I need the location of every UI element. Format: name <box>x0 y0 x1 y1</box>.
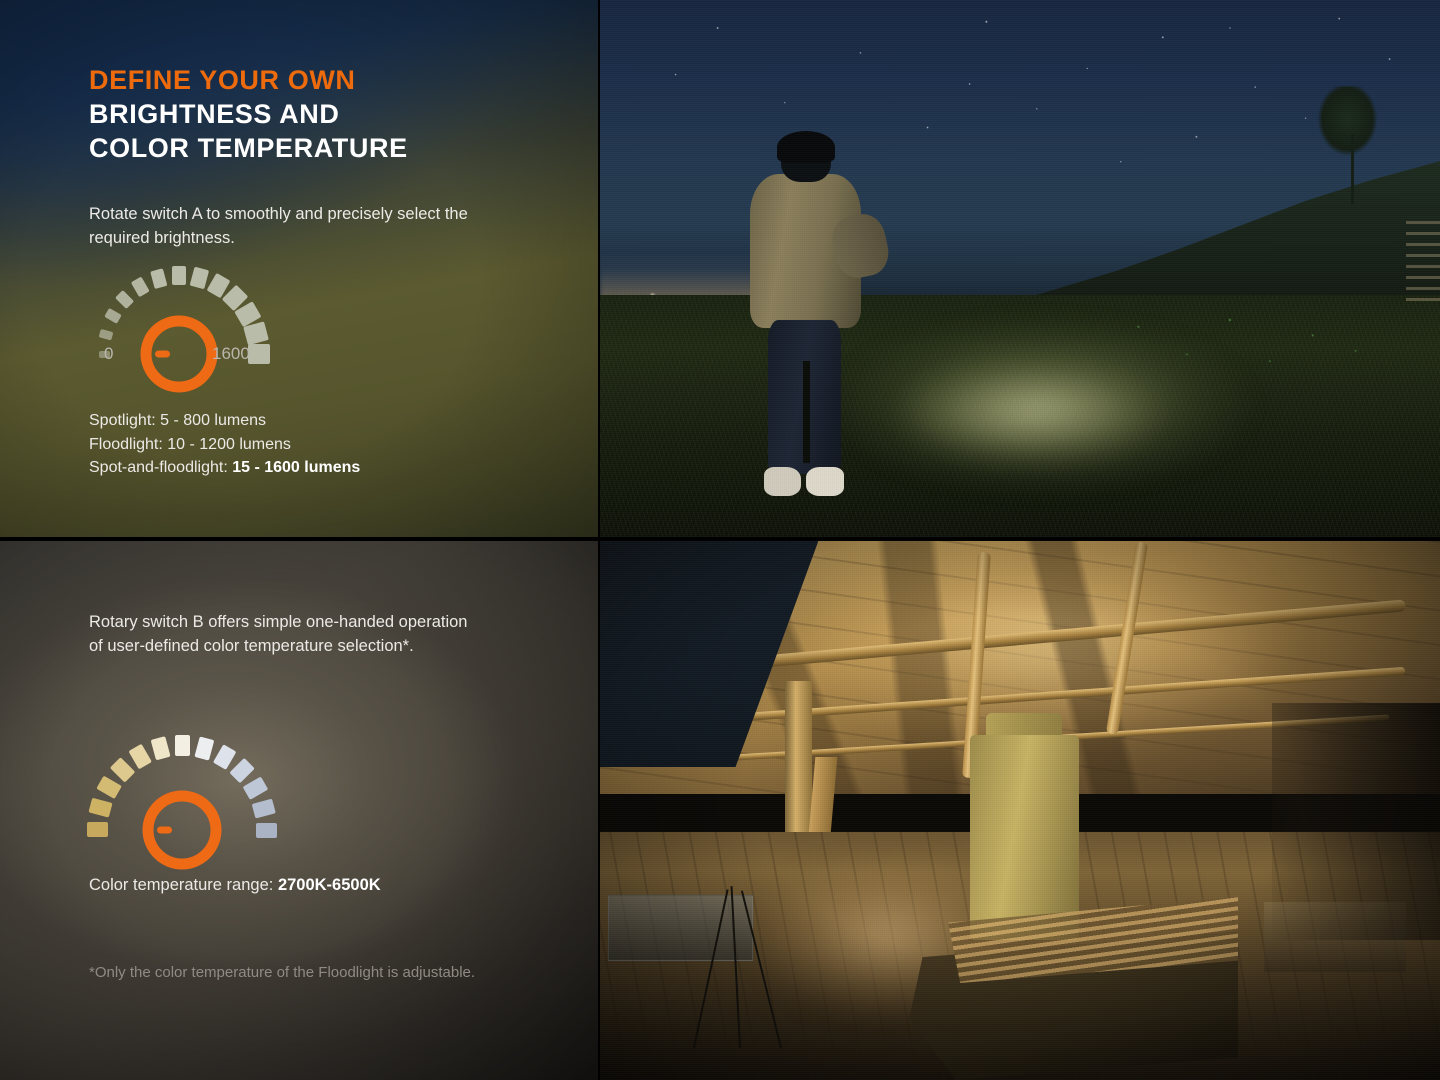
spec-value: 15 - 1600 lumens <box>232 459 360 476</box>
color-temperature-dial-ticks <box>87 735 277 838</box>
green-light-speckles <box>1104 301 1390 387</box>
person-shoe-left <box>764 467 801 496</box>
color-temperature-dial-graphic <box>105 733 285 863</box>
color-temperature-range: Color temperature range: 2700K-6500K <box>89 876 381 895</box>
color-temperature-panel: Rotary switch B offers simple one-handed… <box>0 541 598 1080</box>
lone-tree-canopy <box>1310 86 1386 204</box>
color-temperature-dial[interactable] <box>105 733 285 863</box>
color-temperature-description: Rotary switch B offers simple one-handed… <box>89 611 479 659</box>
spec-label: Spot-and-floodlight: <box>89 459 232 476</box>
spec-row: Spot-and-floodlight: 15 - 1600 lumens <box>89 456 360 480</box>
workshop-photo <box>600 541 1440 1080</box>
spec-row: Spotlight: 5 - 800 lumens <box>89 409 360 433</box>
range-value: 2700K-6500K <box>278 876 381 894</box>
color-temperature-footnote: *Only the color temperature of the Flood… <box>89 959 489 987</box>
spec-label: Spotlight: <box>89 412 160 429</box>
spec-row: Floodlight: 10 - 1200 lumens <box>89 433 360 457</box>
brightness-dial-min-label: 0 <box>104 344 113 364</box>
person-silhouette <box>743 134 869 499</box>
brightness-heading: DEFINE YOUR OWN BRIGHTNESS AND COLOR TEM… <box>89 64 408 166</box>
heading-line-3: COLOR TEMPERATURE <box>89 131 408 166</box>
night-field-photo <box>600 0 1440 537</box>
lone-tree-trunk <box>1351 134 1354 204</box>
brightness-dial-indicator <box>155 351 170 358</box>
range-label: Color temperature range: <box>89 876 278 894</box>
person-hair <box>777 131 835 164</box>
spec-label: Floodlight: <box>89 436 167 453</box>
color-temperature-dial-indicator <box>157 827 172 834</box>
brightness-description: Rotate switch A to smoothly and precisel… <box>89 203 519 251</box>
fence <box>1406 215 1440 301</box>
person-leg-gap <box>803 361 809 463</box>
heading-line-2: BRIGHTNESS AND <box>89 97 408 132</box>
brightness-dial-max-label: 1600 <box>212 344 250 364</box>
workshop-vignette <box>600 541 1440 1080</box>
spec-value: 10 - 1200 lumens <box>167 436 291 453</box>
person-shoe-right <box>806 467 844 496</box>
spec-value: 5 - 800 lumens <box>160 412 266 429</box>
heading-accent-line: DEFINE YOUR OWN <box>89 64 408 97</box>
promo-page: DEFINE YOUR OWN BRIGHTNESS AND COLOR TEM… <box>0 0 1440 1080</box>
brightness-dial-graphic <box>95 262 285 377</box>
brightness-specs: Spotlight: 5 - 800 lumens Floodlight: 10… <box>89 409 360 480</box>
brightness-dial[interactable]: 0 1600 <box>95 262 285 377</box>
brightness-panel: DEFINE YOUR OWN BRIGHTNESS AND COLOR TEM… <box>0 0 598 537</box>
